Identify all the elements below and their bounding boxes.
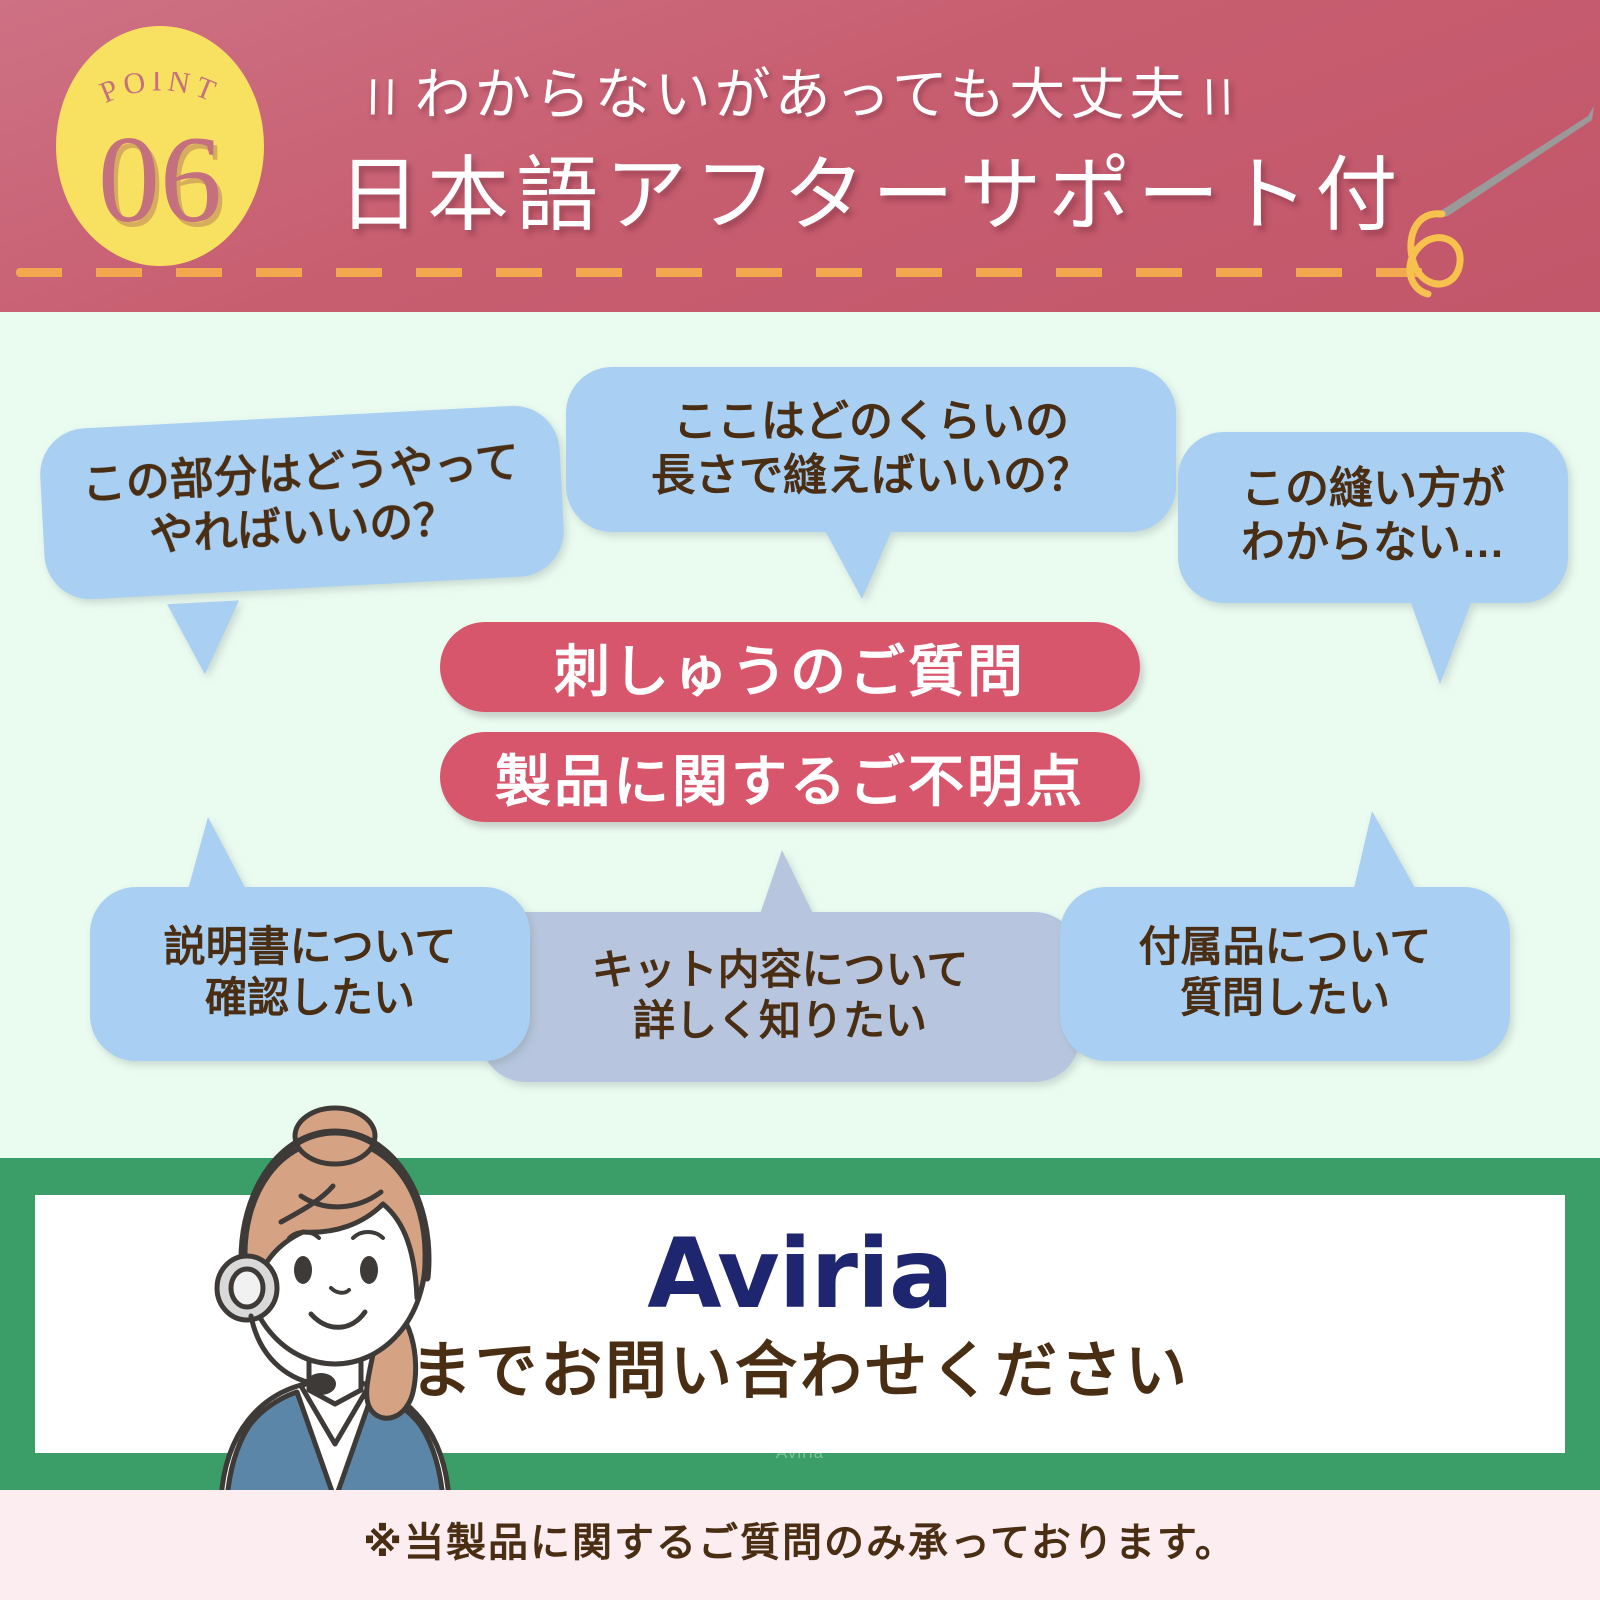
questions-area: この部分はどうやって やればいいの？ ここはどのくらいの 長さで縫えばいいの？ …: [0, 312, 1600, 1158]
slash-left-icon: \\: [358, 71, 408, 126]
bubble-line-2: 長さで縫えばいいの？: [592, 449, 1150, 503]
speech-bubble-top-left: この部分はどうやって やればいいの？: [38, 404, 566, 602]
bubble-tail-icon: [730, 850, 840, 920]
header-subtitle-text: わからないがあっても大丈夫: [415, 63, 1189, 126]
category-pill-embroidery[interactable]: 刺しゅうのご質問: [440, 622, 1140, 712]
category-pill-product[interactable]: 製品に関するご不明点: [440, 732, 1140, 822]
operator-illustration: [185, 1092, 485, 1500]
bubble-line-1: この縫い方が: [1200, 462, 1546, 516]
bubble-tail-icon: [816, 525, 916, 605]
speech-bubble-bottom-left: 説明書について 確認したい: [90, 887, 530, 1061]
bubble-tail-icon: [1410, 600, 1500, 690]
bubble-line-1: キット内容について: [506, 944, 1054, 995]
point-badge: POINT 06: [56, 26, 264, 266]
bubble-line-2: 質問したい: [1084, 972, 1486, 1023]
speech-bubble-bottom-right: 付属品について 質問したい: [1060, 887, 1510, 1061]
footer-note-text: ※当製品に関するご質問のみ承っております。: [0, 1510, 1600, 1568]
bubble-tail-icon: [1328, 811, 1438, 897]
speech-bubble-bottom-center: キット内容について 詳しく知りたい: [480, 912, 1080, 1082]
svg-text:POINT: POINT: [95, 72, 224, 110]
point-badge-number: 06: [56, 118, 264, 242]
bubble-line-1: ここはどのくらいの: [592, 395, 1150, 449]
header-title: 日本語アフターサポート付: [338, 128, 1398, 247]
speech-bubble-top-right: この縫い方が わからない…: [1178, 432, 1568, 603]
bubble-line-1: 説明書について: [114, 921, 506, 972]
header-subtitle: \\わからないがあっても大丈夫//: [352, 50, 1372, 131]
bubble-tail-icon: [167, 599, 261, 684]
bubble-line-2: わからない…: [1200, 516, 1546, 570]
pill-label: 刺しゅうのご質問: [554, 627, 1026, 708]
slash-right-icon: //: [1195, 71, 1245, 126]
header-banner: POINT 06 \\わからないがあっても大丈夫// 日本語アフターサポート付: [0, 0, 1600, 312]
bubble-line-2: 確認したい: [114, 972, 506, 1023]
point-badge-label: POINT: [95, 72, 224, 110]
dashed-divider: [16, 268, 1436, 277]
bubble-tail-icon: [160, 817, 270, 897]
bubble-line-1: 付属品について: [1084, 921, 1486, 972]
needle-and-thread-icon: [1380, 100, 1600, 300]
infographic-page: POINT 06 \\わからないがあっても大丈夫// 日本語アフターサポート付 …: [0, 0, 1600, 1600]
pill-label: 製品に関するご不明点: [495, 737, 1085, 818]
speech-bubble-top-center: ここはどのくらいの 長さで縫えばいいの？: [566, 367, 1176, 532]
bubble-line-2: 詳しく知りたい: [506, 995, 1054, 1046]
